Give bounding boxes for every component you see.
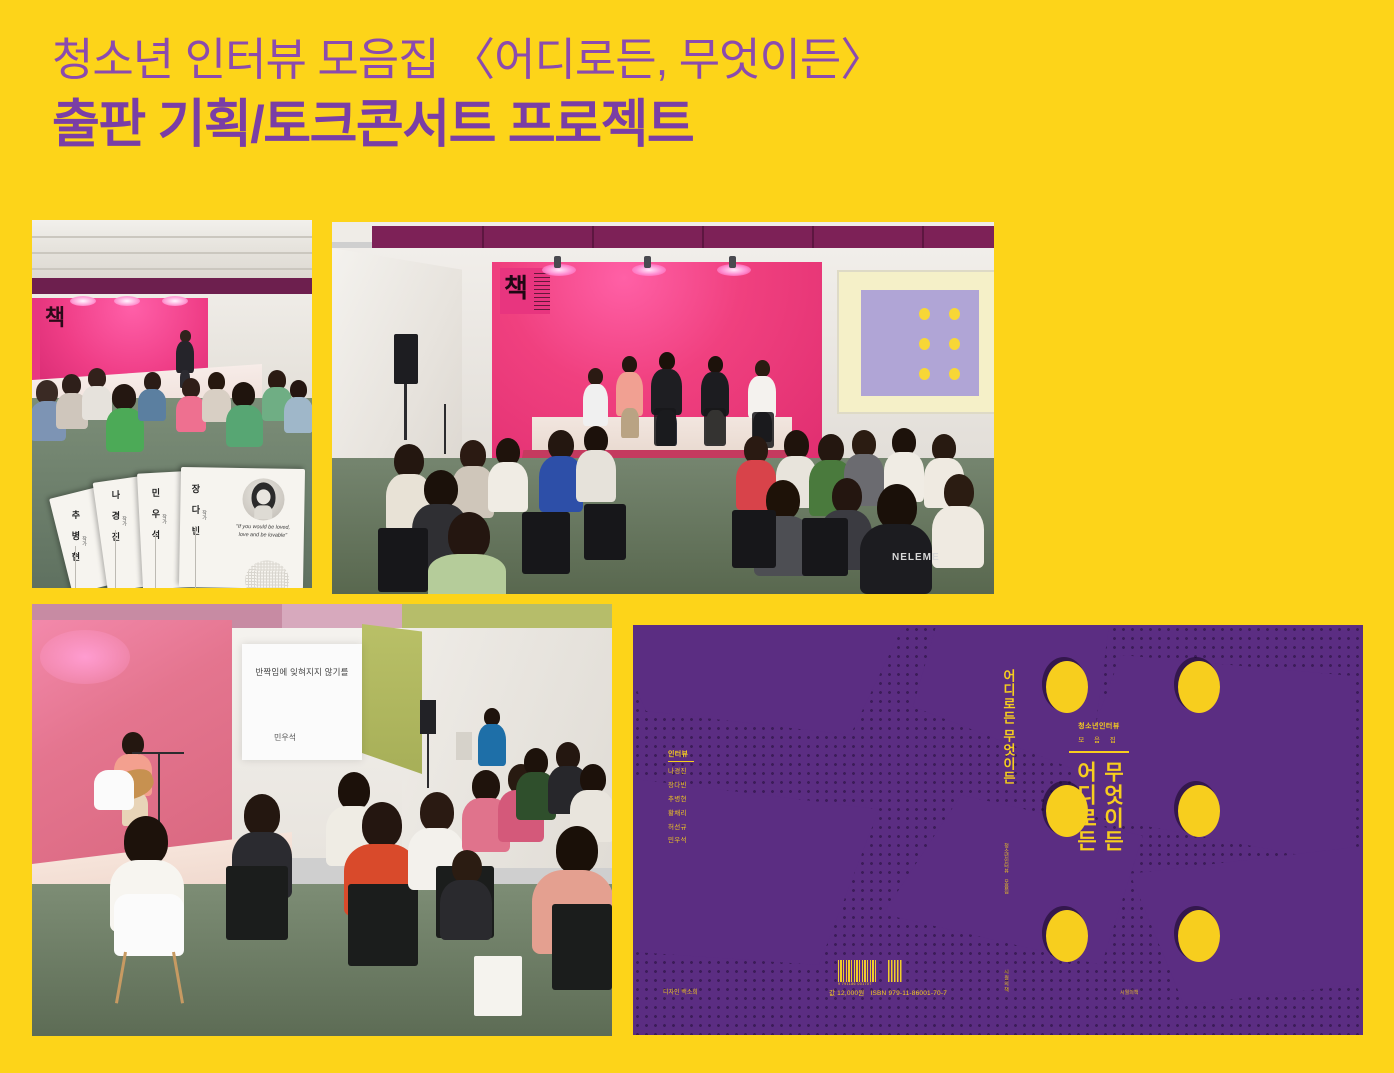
pa-speaker xyxy=(420,700,436,734)
barcode-number: 9 791186 001707 xyxy=(838,982,872,986)
speaker-stand xyxy=(404,384,407,440)
speaker-stand xyxy=(427,734,429,788)
pa-speaker xyxy=(394,334,418,384)
author-name: 민우석 xyxy=(668,838,694,845)
upper-maroon-band xyxy=(372,226,994,248)
author-name: 황채리 xyxy=(668,811,694,818)
stage-spotlight xyxy=(70,296,96,306)
book-festival-logo: 책 xyxy=(42,304,68,332)
green-wall-accent xyxy=(362,624,422,774)
author-portrait xyxy=(242,478,285,521)
author-card-role: 작가 xyxy=(121,516,128,526)
spine-title-b: 무엇이든 xyxy=(999,729,1018,785)
price-isbn: 값 12,000원 ISBN 979-11-86001-70-7 xyxy=(829,987,947,997)
author-name: 나경진 xyxy=(668,769,694,776)
barcode-addon xyxy=(888,960,902,982)
front-cover-title-right: 무엇이든 xyxy=(1102,761,1123,853)
page-title: 청소년 인터뷰 모음집 〈어디로든, 무엇이든〉 출판 기획/토크콘서트 프로젝… xyxy=(52,32,1152,157)
slide-author: 민우석 xyxy=(250,732,320,743)
slide-title: 반짝임에 잊혀지지 않기를 xyxy=(250,666,354,678)
photo-acoustic-session: 반짝임에 잊혀지지 않기를 민우석 xyxy=(32,604,612,1036)
front-cover-kicker: 청소년인터뷰 xyxy=(1029,721,1169,731)
wall-band xyxy=(32,278,312,294)
cover-circle xyxy=(1046,910,1088,962)
author-name: 허선규 xyxy=(668,825,694,832)
author-card-role: 작가 xyxy=(201,510,208,520)
front-cover-title-block: 청소년인터뷰 모 음 집 무엇이든 어디로든 xyxy=(1029,721,1169,853)
spine-publisher: 시월의책 xyxy=(1003,969,1010,993)
cover-circle xyxy=(1178,661,1220,713)
stage-spotlight xyxy=(40,630,130,684)
cover-circle xyxy=(1046,661,1088,713)
logo-side-text xyxy=(534,270,550,310)
ceiling-line xyxy=(32,252,312,254)
cover-circle xyxy=(1178,785,1220,837)
mic-stand xyxy=(444,404,446,454)
price: 값 12,000원 xyxy=(829,990,864,997)
photo-audience-cards: 책 xyxy=(32,220,312,588)
author-name: 장다빈 xyxy=(668,783,694,790)
mic-stand xyxy=(158,752,160,828)
front-cover-kicker2: 모 음 집 xyxy=(1029,734,1169,744)
divider xyxy=(1069,751,1129,753)
front-cover-title: 무엇이든 어디로든 xyxy=(1029,761,1169,853)
spine-title-a: 어디로든 xyxy=(999,669,1018,725)
shopping-bag xyxy=(474,956,522,1016)
front-cover-title-left: 어디로든 xyxy=(1075,761,1096,853)
t-shirt-text: NELEME xyxy=(892,552,940,563)
designer-credit: 디자인 백소희 xyxy=(663,987,698,996)
ceiling-line xyxy=(32,268,312,270)
ceiling-line xyxy=(32,236,312,238)
divider xyxy=(668,761,694,762)
author-card-role: 작가 xyxy=(161,514,168,524)
performer-chair xyxy=(94,770,134,810)
author-card-role: 작가 xyxy=(81,536,88,546)
page-main-title: 출판 기획/토크콘서트 프로젝트 xyxy=(52,94,1152,156)
book-cover-design: 어디로든 무엇이든 청소년인터뷰 모음집 시월의책 인터뷰 나경진 장다빈 추병… xyxy=(633,625,1363,1035)
author-card-quote: "If you would be loved, love and be lova… xyxy=(232,524,294,541)
lectern xyxy=(456,732,472,760)
isbn: ISBN 979-11-86001-70-7 xyxy=(870,990,947,997)
slide-content xyxy=(861,290,979,396)
author-list-label: 인터뷰 xyxy=(668,751,694,758)
author-name: 추병현 xyxy=(668,797,694,804)
cover-circle xyxy=(1178,910,1220,962)
stage-spotlight xyxy=(114,296,140,306)
photo-talkconcert-stage: 책 xyxy=(332,222,994,594)
stage-spotlight xyxy=(162,296,188,306)
author-card-fan: "If you would be loved, love and be lova… xyxy=(40,438,312,588)
spine-subtitle: 청소년인터뷰 모음집 xyxy=(1003,843,1010,894)
barcode xyxy=(838,960,878,982)
front-cover-publisher: 시월의책 xyxy=(1120,989,1138,996)
poster-page: 청소년 인터뷰 모음집 〈어디로든, 무엇이든〉 출판 기획/토크콘서트 프로젝… xyxy=(0,0,1394,1073)
presentation-screen xyxy=(837,270,994,414)
halftone-decoration xyxy=(245,560,290,588)
back-cover-author-list: 인터뷰 나경진 장다빈 추병현 황채리 허선규 민우석 xyxy=(668,751,694,852)
page-subtitle: 청소년 인터뷰 모음집 〈어디로든, 무엇이든〉 xyxy=(52,32,1152,88)
